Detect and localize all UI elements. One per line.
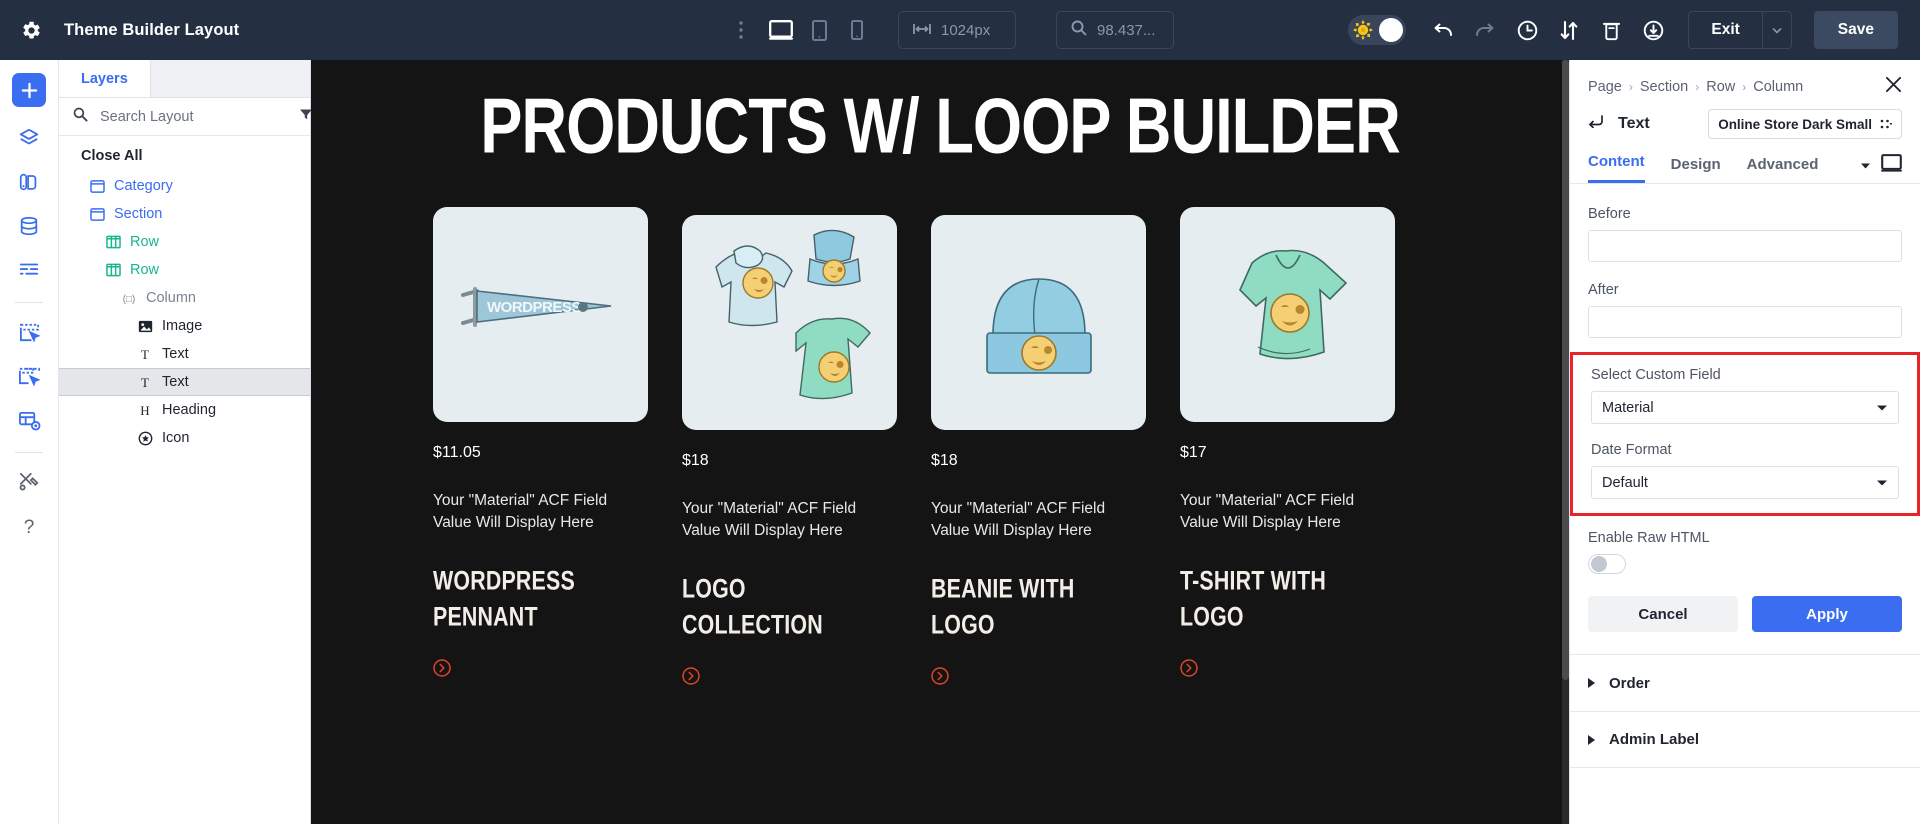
mobile-icon[interactable] — [838, 13, 876, 47]
search-input[interactable] — [100, 109, 287, 125]
icon-circle-icon — [137, 430, 153, 446]
layer-item-text-7[interactable]: TText — [59, 368, 310, 396]
preset-grip-icon — [1880, 117, 1892, 132]
acf-placeholder-text: Your "Material" ACF Field Value Will Dis… — [433, 490, 633, 535]
beanie-image[interactable] — [931, 215, 1146, 430]
layer-item-label: Text — [162, 374, 189, 390]
enable-raw-html-label: Enable Raw HTML — [1588, 530, 1902, 546]
product-title: BEANIE WITH LOGO — [931, 571, 1131, 643]
search-icon — [73, 107, 88, 127]
acf-placeholder-text: Your "Material" ACF Field Value Will Dis… — [1180, 490, 1380, 535]
layers-panel: Layers Close All CategorySectionRowRow(□… — [59, 60, 311, 824]
cancel-button[interactable]: Cancel — [1588, 596, 1738, 632]
product-title: WORDPRESS PENNANT — [433, 563, 633, 635]
heading-h-icon: H — [137, 402, 153, 418]
tshirt-image[interactable] — [1180, 207, 1395, 422]
preset-selector[interactable]: Online Store Dark Small — [1708, 109, 1902, 139]
arrow-right-circle-icon[interactable] — [682, 667, 897, 690]
close-all-button[interactable]: Close All — [59, 136, 310, 170]
redo-icon[interactable] — [1464, 10, 1506, 50]
columns-icon — [105, 262, 121, 278]
page-title: Theme Builder Layout — [64, 21, 239, 40]
left-icon-rail: ? — [0, 60, 59, 824]
date-format-value: Default — [1602, 475, 1648, 491]
toolbar-right-group: Exit Save — [1348, 10, 1920, 50]
zoom-search-icon — [1071, 20, 1087, 40]
layer-item-text-6[interactable]: TText — [59, 340, 310, 368]
device-square-icon[interactable] — [1881, 154, 1902, 177]
undo-icon[interactable] — [1422, 10, 1464, 50]
toggle-knob — [1591, 556, 1607, 572]
triangle-right-icon — [1588, 735, 1595, 745]
exit-button[interactable]: Exit — [1688, 11, 1761, 49]
acf-placeholder-text: Your "Material" ACF Field Value Will Dis… — [682, 498, 882, 543]
responsive-width-icon — [913, 22, 931, 39]
highlighted-region: Select Custom Field Material Date Format… — [1570, 352, 1920, 516]
accordion-list: Order Admin Label — [1570, 654, 1920, 768]
layer-item-label: Section — [114, 206, 162, 222]
product-title: LOGO COLLECTION — [682, 571, 882, 643]
close-icon[interactable] — [1885, 76, 1902, 97]
select-custom-field-label: Select Custom Field — [1591, 367, 1899, 383]
arrow-right-circle-icon[interactable] — [931, 667, 1146, 690]
gear-icon[interactable] — [20, 19, 42, 41]
layer-tree: CategorySectionRowRow(□)ColumnImageTText… — [59, 170, 310, 452]
layer-item-label: Column — [146, 290, 196, 306]
product-title: T-SHIRT WITH LOGO — [1180, 563, 1380, 635]
after-label: After — [1588, 282, 1902, 298]
chevron-down-icon[interactable] — [1860, 157, 1871, 175]
rail-divider-2 — [15, 452, 43, 453]
history-clock-icon[interactable] — [1506, 10, 1548, 50]
select-custom-field-dropdown[interactable]: Material — [1591, 391, 1899, 424]
arrow-right-circle-icon[interactable] — [1180, 659, 1395, 682]
tools-icon[interactable] — [11, 465, 47, 499]
accordion-admin-label[interactable]: Admin Label — [1570, 711, 1920, 768]
canvas-width-control[interactable]: 1024px — [898, 11, 1016, 49]
layer-item-column-4[interactable]: (□)Column — [59, 284, 310, 312]
panel-actions: Cancel Apply — [1570, 596, 1920, 632]
breadcrumb-row[interactable]: Row — [1706, 79, 1735, 95]
theme-toggle-knob — [1379, 18, 1403, 42]
breadcrumb-column[interactable]: Column — [1753, 79, 1803, 95]
zoom-control[interactable]: 98.437... — [1056, 11, 1174, 49]
triangle-right-icon — [1588, 678, 1595, 688]
custom-field-group: Select Custom Field Material — [1573, 367, 1917, 424]
layers-search-row — [59, 98, 310, 136]
select-custom-field-value: Material — [1602, 400, 1654, 416]
blocks-pointer-icon[interactable] — [11, 359, 47, 393]
layer-item-label: Category — [114, 178, 173, 194]
layer-item-section-1[interactable]: Section — [59, 200, 310, 228]
exit-dropdown-chevron-down-icon[interactable] — [1762, 11, 1792, 49]
svg-text:T: T — [141, 347, 149, 361]
arrow-right-circle-icon[interactable] — [433, 659, 648, 682]
kebab-menu-icon[interactable] — [730, 18, 752, 42]
breadcrumb-separator: › — [1695, 80, 1699, 94]
module-header: Text Online Store Dark Small — [1570, 97, 1920, 139]
browser-icon — [89, 206, 105, 222]
settings-tabs: Content Design Advanced — [1570, 139, 1920, 184]
panel-eye-icon[interactable] — [11, 403, 47, 437]
list-lines-icon[interactable] — [11, 253, 47, 287]
preset-label: Online Store Dark Small — [1718, 117, 1872, 132]
layers-icon[interactable] — [11, 121, 47, 155]
accordion-order[interactable]: Order — [1570, 654, 1920, 711]
svg-text:?: ? — [24, 517, 35, 537]
layer-item-label: Heading — [162, 402, 216, 418]
breadcrumb-page[interactable]: Page — [1588, 79, 1622, 95]
toolbar-center-group: 1024px 98.437... — [310, 11, 1348, 49]
layer-item-image-5[interactable]: Image — [59, 312, 310, 340]
product-price: $11.05 — [433, 444, 648, 462]
pennant-image[interactable]: WORDPRESS — [433, 207, 648, 422]
sort-arrows-icon[interactable] — [1548, 10, 1590, 50]
toolbar-left-group: Theme Builder Layout — [0, 19, 310, 41]
layer-item-row-2[interactable]: Row — [59, 228, 310, 256]
browser-icon — [89, 178, 105, 194]
breadcrumb-separator: › — [1629, 80, 1633, 94]
tabs-right-controls — [1860, 154, 1902, 183]
product-card[interactable]: WORDPRESS $11.05Your "Material" ACF Fiel… — [433, 207, 648, 690]
canvas-scrollbar[interactable] — [1562, 60, 1569, 824]
tablet-icon[interactable] — [800, 13, 838, 47]
column-icon: (□) — [121, 290, 137, 306]
layer-item-label: Text — [162, 346, 189, 362]
date-format-dropdown[interactable]: Default — [1591, 466, 1899, 499]
tab-layers[interactable]: Layers — [59, 60, 151, 97]
svg-text:H: H — [140, 403, 149, 417]
settings-panel: Page › Section › Row › Column Text Onlin… — [1569, 60, 1920, 824]
settings-body: Before After Select Custom Field Materia… — [1570, 184, 1920, 824]
layers-tabbar: Layers — [59, 60, 310, 98]
tab-advanced[interactable]: Advanced — [1747, 156, 1819, 183]
image-icon — [137, 318, 153, 334]
top-toolbar: Theme Builder Layout 1024px — [0, 0, 1920, 60]
text-t-icon: T — [137, 374, 153, 390]
zoom-value: 98.437... — [1097, 22, 1155, 39]
sun-icon — [1353, 20, 1373, 45]
accordion-order-label: Order — [1609, 675, 1650, 692]
before-input[interactable] — [1588, 230, 1902, 262]
tab-design[interactable]: Design — [1671, 156, 1721, 183]
after-field-group: After — [1570, 282, 1920, 338]
breadcrumb: Page › Section › Row › Column — [1570, 60, 1920, 97]
layer-item-label: Row — [130, 234, 159, 250]
template-pointer-icon[interactable] — [11, 315, 47, 349]
layer-item-row-3[interactable]: Row — [59, 256, 310, 284]
layer-item-category-0[interactable]: Category — [59, 172, 310, 200]
save-button[interactable]: Save — [1814, 11, 1898, 49]
after-input[interactable] — [1588, 306, 1902, 338]
product-grid: WORDPRESS $11.05Your "Material" ACF Fiel… — [311, 149, 1569, 690]
theme-toggle[interactable] — [1348, 15, 1406, 45]
columns-icon — [105, 234, 121, 250]
product-price: $18 — [682, 452, 897, 470]
desktop-icon[interactable] — [762, 13, 800, 47]
product-card[interactable]: $18Your "Material" ACF Field Value Will … — [931, 215, 1146, 690]
canvas-width-value: 1024px — [941, 22, 990, 39]
canvas-preview: PRODUCTS W/ LOOP BUILDER WORDPRESS $11.0… — [311, 60, 1569, 824]
breadcrumb-section[interactable]: Section — [1640, 79, 1688, 95]
text-t-icon: T — [137, 346, 153, 362]
canvas-scrollbar-thumb[interactable] — [1562, 60, 1569, 680]
back-arrow-icon[interactable] — [1588, 115, 1604, 133]
tab-content[interactable]: Content — [1588, 153, 1645, 183]
layer-item-icon-9[interactable]: Icon — [59, 424, 310, 452]
trash-icon[interactable] — [1590, 10, 1632, 50]
acf-placeholder-text: Your "Material" ACF Field Value Will Dis… — [931, 498, 1131, 543]
svg-text:WORDPRESS: WORDPRESS — [487, 299, 581, 316]
accordion-admin-label-label: Admin Label — [1609, 731, 1699, 748]
layer-item-label: Image — [162, 318, 202, 334]
apply-button[interactable]: Apply — [1752, 596, 1902, 632]
logo-collection-image[interactable] — [682, 215, 897, 430]
product-price: $17 — [1180, 444, 1395, 462]
product-price: $18 — [931, 452, 1146, 470]
layer-item-heading-8[interactable]: HHeading — [59, 396, 310, 424]
enable-raw-html-toggle[interactable] — [1588, 554, 1626, 574]
hero-heading: PRODUCTS W/ LOOP BUILDER — [311, 60, 1569, 171]
download-icon[interactable] — [1632, 10, 1674, 50]
rail-divider — [15, 302, 43, 303]
database-icon[interactable] — [11, 209, 47, 243]
svg-text:T: T — [141, 375, 149, 389]
date-format-group: Date Format Default — [1573, 442, 1917, 499]
layer-item-label: Row — [130, 262, 159, 278]
date-format-label: Date Format — [1591, 442, 1899, 458]
palette-icon[interactable] — [11, 165, 47, 199]
before-label: Before — [1588, 206, 1902, 222]
raw-html-group: Enable Raw HTML — [1570, 530, 1920, 574]
product-card[interactable]: $18Your "Material" ACF Field Value Will … — [682, 215, 897, 690]
svg-text:(□): (□) — [123, 294, 135, 305]
chevron-down-icon — [1876, 400, 1888, 416]
layer-item-label: Icon — [162, 430, 189, 446]
question-mark-icon[interactable]: ? — [11, 509, 47, 543]
chevron-down-icon — [1876, 475, 1888, 491]
module-title: Text — [1618, 115, 1650, 133]
before-field-group: Before — [1570, 206, 1920, 262]
add-button[interactable] — [12, 73, 46, 107]
breadcrumb-separator: › — [1742, 80, 1746, 94]
product-card[interactable]: $17Your "Material" ACF Field Value Will … — [1180, 207, 1395, 690]
